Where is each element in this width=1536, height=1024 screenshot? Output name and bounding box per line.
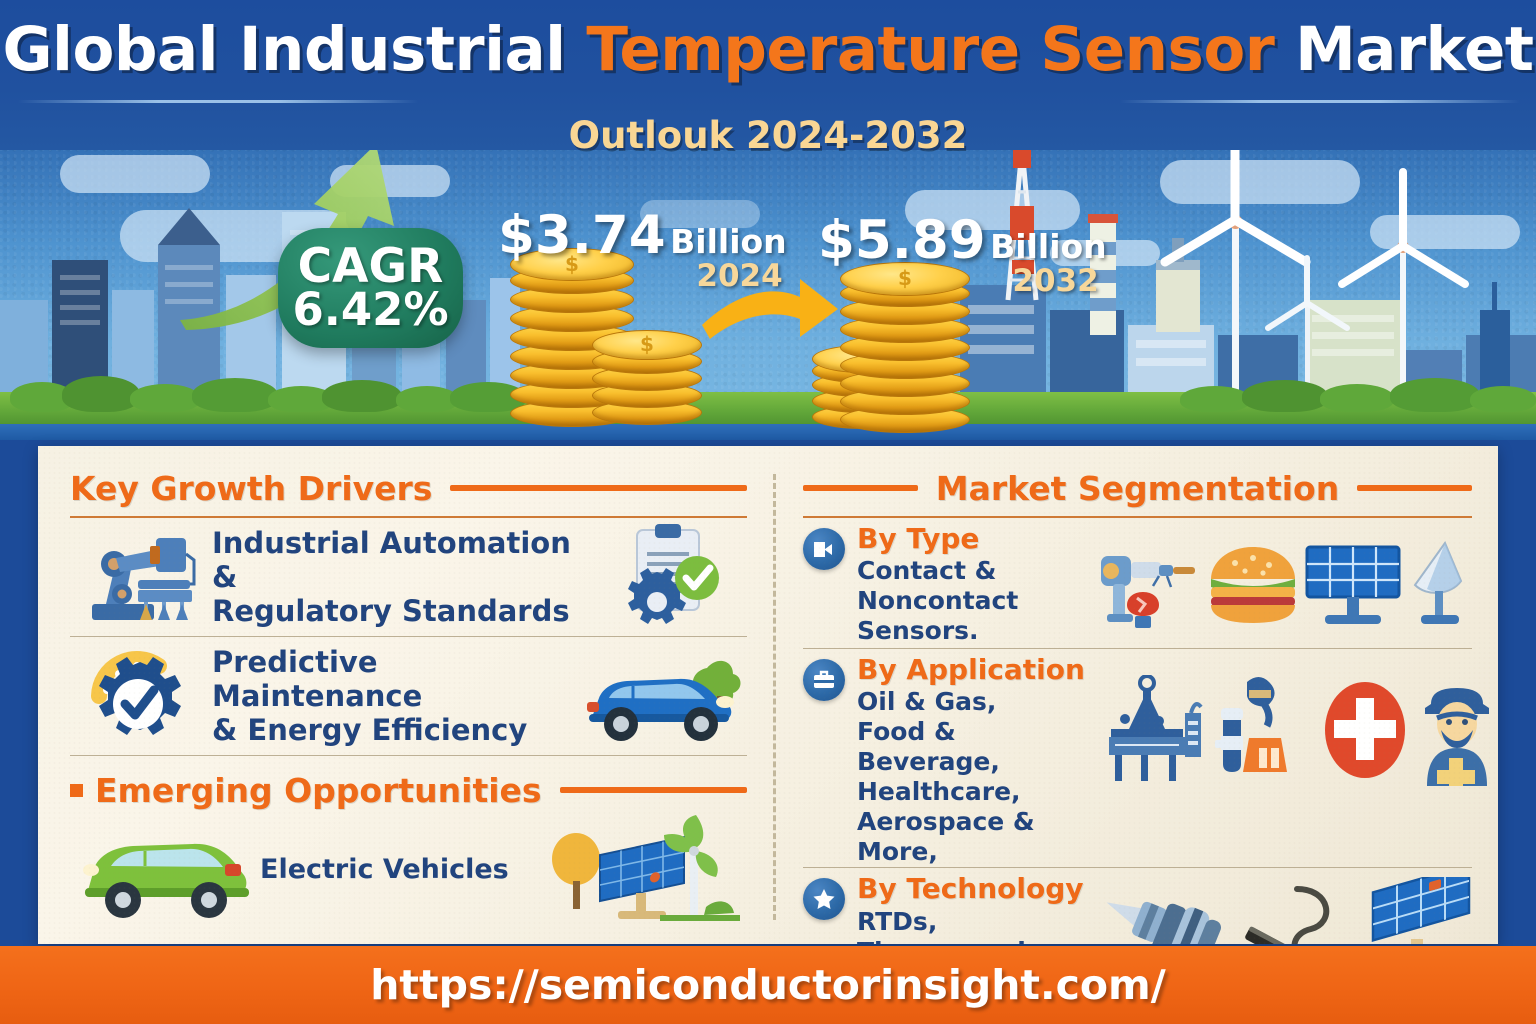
- bush-icon: [192, 378, 278, 412]
- segment-by-type-line1: Contact &: [857, 556, 1087, 586]
- solar-panel-sensor-icon: [1357, 877, 1487, 944]
- page-title-highlight: Temperature Sensor: [586, 14, 1274, 85]
- gear-clipboard-check-icon: [577, 522, 747, 632]
- driver-automation-line2: Regulatory Standards: [212, 594, 577, 628]
- bush-icon: [1470, 386, 1536, 412]
- stat-2032-unit: Billion: [990, 227, 1107, 266]
- panel-divider: [773, 474, 776, 920]
- heading-dash: [1357, 485, 1472, 491]
- bush-row: [0, 376, 1536, 412]
- robot-arm-icon: [70, 528, 212, 626]
- segment-by-application-line4: Aerospace & More,: [857, 807, 1087, 867]
- coin-stack-2024-short: $: [592, 330, 702, 426]
- content-card: Key Growth Drivers: [38, 446, 1498, 944]
- beverage-bottle-icon: [1209, 674, 1319, 786]
- segment-row-by-type: By Type Contact & Noncontact Sensors.: [803, 518, 1472, 648]
- oil-rig-icon: [1097, 675, 1209, 785]
- bush-icon: [396, 386, 458, 412]
- section-heading-drivers-label: Key Growth Drivers: [70, 469, 432, 508]
- segment-by-application-icons: [1087, 655, 1498, 805]
- divider: [70, 755, 747, 756]
- satellite-dish-icon: [1405, 539, 1479, 629]
- driver-predictive-line1: Predictive Maintenance: [212, 645, 577, 713]
- heading-dash: [803, 485, 918, 491]
- driver-automation-text: Industrial Automation & Regulatory Stand…: [212, 526, 577, 629]
- green-electric-car-icon: [70, 820, 260, 920]
- section-heading-segmentation: Market Segmentation: [803, 464, 1472, 512]
- section-heading-segmentation-label: Market Segmentation: [936, 469, 1339, 508]
- segment-by-type-icons: [1087, 524, 1479, 644]
- heading-dash: [450, 485, 747, 491]
- bush-icon: [1242, 380, 1328, 412]
- segment-by-application-line3: Healthcare,: [857, 777, 1087, 807]
- blue-car-tree-icon: [577, 646, 747, 746]
- thermal-probe-icon: [1097, 881, 1237, 944]
- page-title-part1: Global Industrial: [2, 14, 586, 85]
- section-heading-drivers: Key Growth Drivers: [70, 464, 747, 512]
- segment-by-type-title: By Type: [857, 524, 1087, 553]
- section-heading-opportunities-label: Emerging Opportunities: [95, 771, 542, 810]
- solar-panel-icon: [1301, 539, 1405, 629]
- segment-by-technology-line1: RTDs, Thermoouples,: [857, 907, 1087, 944]
- segment-by-type-line2: Noncontact Sensors.: [857, 586, 1087, 646]
- hero-banner: CAGR 6.42% $3.74 Billion 2024 $5.89 Bill…: [0, 0, 1536, 440]
- page-title-part3: Market: [1274, 14, 1533, 85]
- segment-by-application-line1: Oil & Gas,: [857, 687, 1087, 717]
- bush-icon: [1320, 384, 1394, 412]
- footer-bar: https://semiconductorinsight.com/: [0, 946, 1536, 1024]
- medical-cross-icon: [1319, 676, 1411, 784]
- driver-row-predictive: Predictive Maintenance & Energy Efficien…: [70, 637, 747, 755]
- stat-2024-unit: Billion: [670, 222, 787, 261]
- infographic-root: CAGR 6.42% $3.74 Billion 2024 $5.89 Bill…: [0, 0, 1536, 1024]
- opportunity-ev-text: Electric Vehicles: [260, 854, 547, 886]
- driver-predictive-line2: & Energy Efficiency: [212, 713, 577, 747]
- stat-2032-year: 2032: [1012, 263, 1098, 299]
- title-rule-left: [18, 100, 418, 103]
- cagr-badge: CAGR 6.42%: [278, 228, 463, 348]
- heading-bullet: [70, 784, 83, 797]
- page-title: Global Industrial Temperature Sensor Mar…: [0, 14, 1536, 85]
- heading-dash: [560, 787, 747, 793]
- opportunity-row-ev: Electric Vehicles: [70, 814, 747, 926]
- cagr-value: 6.42%: [292, 289, 448, 331]
- briefcase-icon: [803, 659, 845, 701]
- page-subtitle: Outlouk 2024-2032: [0, 114, 1536, 157]
- segment-row-by-application: By Application Oil & Gas, Food & Beverag…: [803, 649, 1472, 867]
- segment-by-application-title: By Application: [857, 655, 1087, 684]
- star-icon: [803, 878, 845, 920]
- gear-checkmark-gauge-icon: [70, 644, 212, 749]
- stat-2024: $3.74 Billion 2024: [498, 205, 787, 294]
- worker-icon: [1411, 674, 1498, 786]
- driver-row-automation: Industrial Automation & Regulatory Stand…: [70, 518, 747, 636]
- segment-row-by-technology: By Technology RTDs, Thermoouples, Infrar…: [803, 868, 1472, 944]
- thermocouple-wire-icon: [1237, 881, 1357, 944]
- driver-automation-line1: Industrial Automation &: [212, 526, 577, 594]
- title-rule-right: [1120, 100, 1520, 103]
- infrared-thermometer-icon: [1097, 538, 1205, 630]
- stat-2024-amount: $3.74: [498, 205, 666, 266]
- driver-predictive-text: Predictive Maintenance & Energy Efficien…: [212, 645, 577, 748]
- bush-icon: [322, 380, 402, 412]
- bush-icon: [130, 384, 200, 412]
- water-band: [0, 424, 1536, 440]
- footer-url[interactable]: https://semiconductorinsight.com/: [370, 961, 1166, 1009]
- market-segmentation-panel: Market Segmentation By Type Contact &: [773, 446, 1498, 944]
- section-heading-opportunities: Emerging Opportunities: [70, 766, 747, 814]
- segment-by-technology-icons: [1087, 874, 1487, 944]
- stat-2032-amount: $5.89: [818, 210, 986, 271]
- sensor-probe-icon: [803, 528, 845, 570]
- bush-icon: [62, 376, 140, 412]
- burger-icon: [1205, 541, 1301, 627]
- key-growth-drivers-panel: Key Growth Drivers: [38, 446, 773, 944]
- segment-by-application-line2: Food & Beverage,: [857, 717, 1087, 777]
- stat-2024-year: 2024: [696, 258, 782, 294]
- segment-by-technology-title: By Technology: [857, 874, 1087, 903]
- solar-panel-wind-turbine-icon: [547, 815, 747, 925]
- stat-2032: $5.89 Billion 2032: [818, 210, 1107, 299]
- bush-icon: [1390, 378, 1480, 412]
- bush-icon: [1180, 386, 1250, 412]
